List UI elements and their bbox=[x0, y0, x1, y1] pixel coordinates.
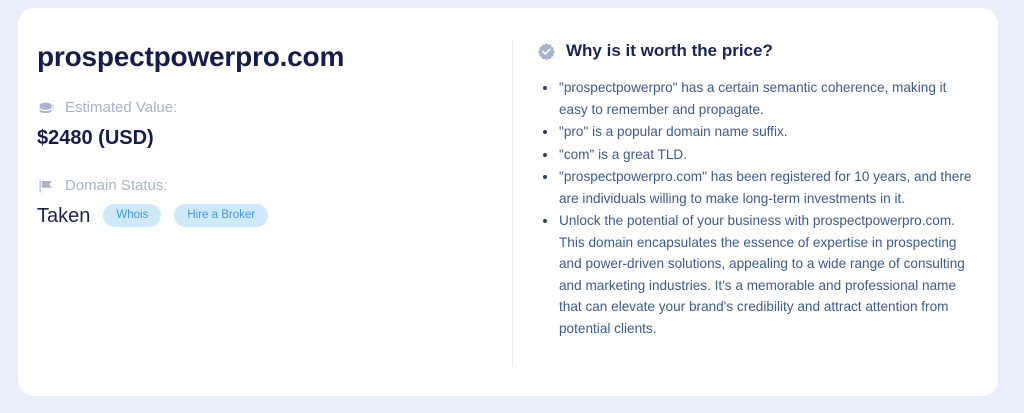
verified-check-badge-icon bbox=[537, 42, 556, 61]
status-badge: Taken bbox=[37, 204, 90, 228]
whois-button[interactable]: Whois bbox=[103, 204, 161, 227]
value-explanation-panel: Why is it worth the price? "prospectpowe… bbox=[513, 8, 998, 396]
list-item: "prospectpowerpro.com" has been register… bbox=[537, 166, 976, 209]
estimated-value-label: Estimated Value: bbox=[65, 99, 177, 117]
domain-status-label-row: Domain Status: bbox=[37, 177, 512, 196]
list-item: "prospectpowerpro" has a certain semanti… bbox=[537, 77, 976, 120]
domain-appraisal-card: prospectpowerpro.com Estimated Value: $2… bbox=[18, 8, 998, 396]
hire-a-broker-button[interactable]: Hire a Broker bbox=[174, 204, 268, 227]
flag-icon bbox=[37, 177, 56, 196]
list-item: Unlock the potential of your business wi… bbox=[537, 210, 976, 339]
panel-heading-text: Why is it worth the price? bbox=[566, 41, 773, 61]
estimated-value-label-row: Estimated Value: bbox=[37, 99, 512, 118]
list-item: "pro" is a popular domain name suffix. bbox=[537, 121, 976, 143]
page-title: prospectpowerpro.com bbox=[37, 42, 512, 73]
panel-heading: Why is it worth the price? bbox=[537, 41, 976, 61]
coins-stack-icon bbox=[37, 99, 56, 118]
reasons-list: "prospectpowerpro" has a certain semanti… bbox=[537, 77, 976, 339]
estimated-value-amount: $2480 (USD) bbox=[37, 126, 512, 150]
domain-status-row: Taken Whois Hire a Broker bbox=[37, 204, 512, 228]
domain-status-label: Domain Status: bbox=[65, 177, 168, 195]
domain-summary-panel: prospectpowerpro.com Estimated Value: $2… bbox=[18, 8, 512, 396]
list-item: "com" is a great TLD. bbox=[537, 144, 976, 166]
